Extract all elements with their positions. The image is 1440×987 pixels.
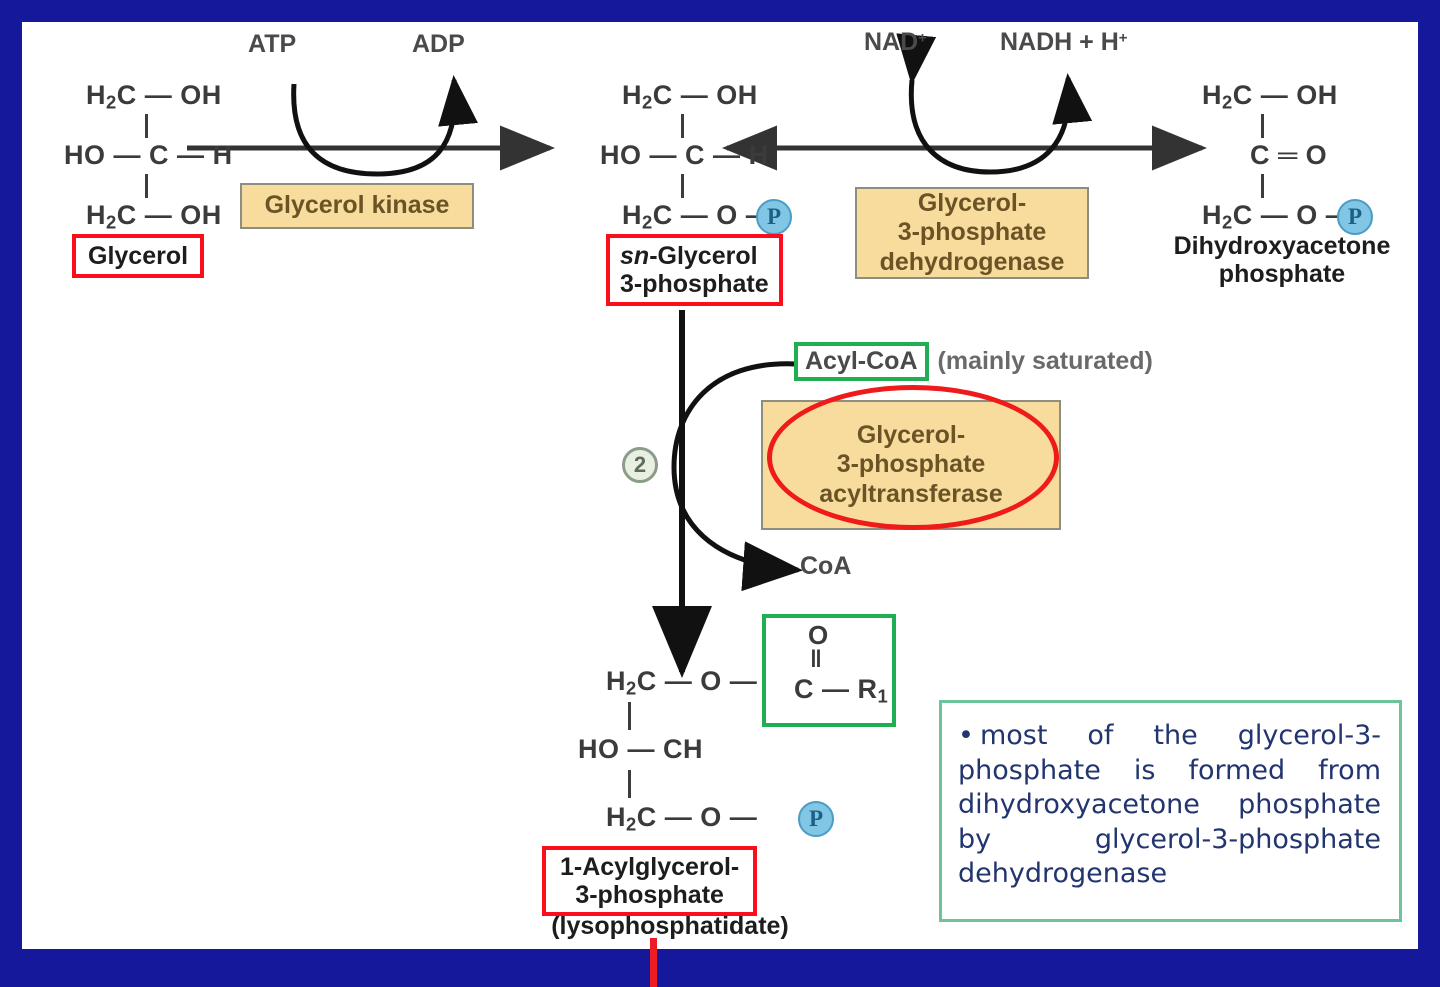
- nadh-label: NADH + H+: [1000, 28, 1128, 57]
- atp-label: ATP: [248, 30, 296, 59]
- adp-label: ADP: [412, 30, 465, 59]
- enzyme-glycerol-kinase[interactable]: Glycerol kinase: [240, 183, 474, 229]
- ester-bottom-row: C — R1: [794, 676, 888, 706]
- slide-frame: ATP ADP NAD+ NADH + H+ H2C — OH HO — C —…: [0, 0, 1440, 987]
- dhap-name-line2: phosphate: [1152, 260, 1412, 288]
- glycerol-name: Glycerol: [88, 242, 188, 270]
- enzyme-g3p-acyltransferase-line1: Glycerol-: [857, 421, 965, 451]
- diagram-canvas: ATP ADP NAD+ NADH + H+ H2C — OH HO — C —…: [22, 22, 1418, 949]
- note-text: •most of the glycerol-3-phosphate is for…: [958, 719, 1381, 892]
- enzyme-g3p-dehydrogenase-line1: Glycerol-: [918, 189, 1026, 219]
- g3p-bond-bottom: [681, 174, 684, 198]
- dhap-line2: C ═ O: [1250, 142, 1327, 169]
- step-number-badge: 2: [622, 447, 658, 483]
- lyso-bond-top: [628, 702, 631, 730]
- lyso-bond-bottom: [628, 770, 631, 798]
- note-bullet: •: [958, 720, 974, 751]
- phosphate-circle-icon: P: [798, 801, 834, 837]
- glycerol-bond-top: [145, 114, 148, 138]
- dhap-bond-top: [1261, 114, 1264, 138]
- g3p-name-box: sn-Glycerol 3-phosphate: [606, 234, 783, 306]
- acyl-coa-box: Acyl-CoA: [794, 342, 929, 381]
- nadh-text: NADH + H: [1000, 28, 1119, 56]
- g3p-line2: HO — C — H: [600, 142, 769, 169]
- acyl-coa-label: Acyl-CoA: [805, 347, 918, 375]
- glycerol-line2: HO — C — H: [64, 142, 233, 169]
- nad-plus-superscript: +: [918, 30, 927, 47]
- glycerol-name-box: Glycerol: [72, 234, 204, 278]
- nad-plus-text: NAD: [864, 28, 918, 56]
- enzyme-g3p-dehydrogenase[interactable]: Glycerol- 3-phosphate dehydrogenase: [855, 187, 1089, 279]
- coa-label: CoA: [800, 552, 851, 581]
- glycerol-line3: H2C — OH: [86, 202, 222, 232]
- ester-oxygen: O: [808, 622, 829, 648]
- lyso-line3: H2C — O —: [606, 804, 757, 834]
- g3p-bond-top: [681, 114, 684, 138]
- g3p-line1: H2C — OH: [622, 82, 758, 112]
- g3p-name-line1: sn-Glycerol: [620, 242, 769, 270]
- lyso-line2: HO — CH: [578, 736, 703, 763]
- enzyme-g3p-acyltransferase-line3: acyltransferase: [819, 480, 1002, 510]
- dhap-name-line1: Dihydroxyacetone: [1152, 232, 1412, 260]
- phosphate-circle-icon: P: [1337, 199, 1373, 235]
- phosphate-circle-icon: P: [756, 199, 792, 235]
- dhap-name: Dihydroxyacetone phosphate: [1152, 232, 1412, 288]
- glycerol-bond-bottom: [145, 174, 148, 198]
- lyso-name-line3: (lysophosphatidate): [520, 912, 820, 940]
- note-box: •most of the glycerol-3-phosphate is for…: [939, 700, 1402, 922]
- glycerol-line1: H2C — OH: [86, 82, 222, 112]
- g3p-name-line2: 3-phosphate: [620, 270, 769, 298]
- dhap-line3: H2C — O —: [1202, 202, 1353, 232]
- note-body: most of the glycerol-3-phosphate is form…: [958, 720, 1381, 889]
- lyso-name-line1: 1-Acylglycerol-: [560, 853, 739, 881]
- lysophosphatidate-name-box: 1-Acylglycerol- 3-phosphate: [542, 846, 757, 916]
- acyl-coa-qualifier: (mainly saturated): [938, 347, 1153, 376]
- lyso-name-line2: 3-phosphate: [560, 881, 739, 909]
- ester-double-bond: ‖: [810, 648, 822, 672]
- enzyme-g3p-dehydrogenase-line2: 3-phosphate: [898, 218, 1047, 248]
- nad-plus-label: NAD+: [864, 28, 927, 57]
- lyso-line1: H2C — O —: [606, 668, 757, 698]
- g3p-line3: H2C — O —: [622, 202, 773, 232]
- acyl-coa-row: Acyl-CoA (mainly saturated): [794, 342, 1153, 381]
- ester-group-box: O ‖ C — R1: [762, 614, 896, 727]
- enzyme-g3p-acyltransferase-line2: 3-phosphate: [837, 450, 986, 480]
- nadh-superscript: +: [1119, 30, 1128, 47]
- dhap-line1: H2C — OH: [1202, 82, 1338, 112]
- enzyme-g3p-acyltransferase[interactable]: Glycerol- 3-phosphate acyltransferase: [761, 400, 1061, 530]
- enzyme-g3p-dehydrogenase-line3: dehydrogenase: [880, 248, 1065, 278]
- dhap-bond-bottom: [1261, 174, 1264, 198]
- enzyme-glycerol-kinase-label: Glycerol kinase: [265, 191, 450, 221]
- red-connector-line: [650, 938, 657, 987]
